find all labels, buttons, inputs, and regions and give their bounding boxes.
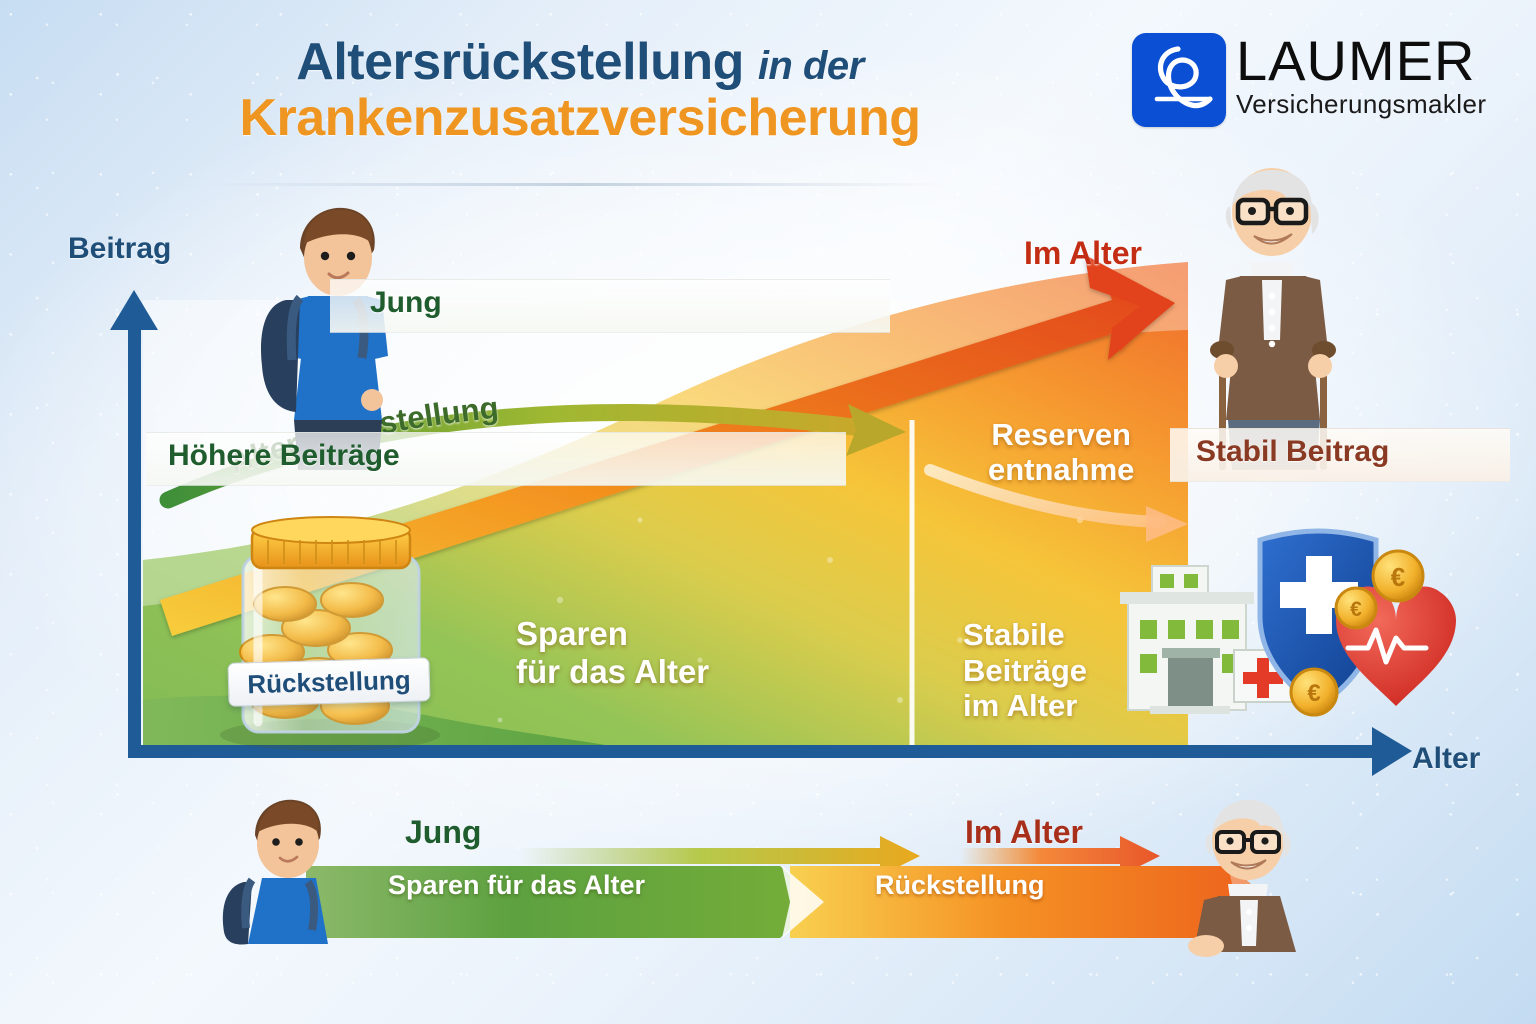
stabile-line-1: Stabile [963, 617, 1087, 653]
elderly-man-with-cane-icon [1210, 168, 1336, 470]
ribbon-label-im-alter: Im Alter [965, 814, 1083, 851]
infographic-canvas: Altersrückstellung in der Krankenzusatzv… [0, 0, 1536, 1024]
coin-jar-icon [220, 517, 440, 751]
summary-ribbon: Jung Im Alter Sparen für das Alter Rücks… [0, 790, 1536, 950]
svg-text:€: € [1307, 680, 1320, 707]
reserven-line-1: Reserven [988, 418, 1134, 453]
jar-tag-label: Rückstellung [247, 664, 411, 700]
label-reservenentnahme: Reserven entnahme [988, 418, 1134, 487]
label-hoehere-beitraege: Höhere Beiträge [168, 439, 400, 473]
label-sparen-fuer-das-alter: Sparen für das Alter [516, 615, 709, 690]
svg-text:€: € [1391, 562, 1405, 592]
label-stabile-beitraege-im-alter: Stabile Beiträge im Alter [963, 617, 1087, 724]
label-im-alter-top: Im Alter [1024, 235, 1142, 272]
jar-tag-rueckstellung: Rückstellung [227, 657, 430, 707]
label-stabil-beitrag: Stabil Beitrag [1196, 435, 1389, 469]
stabile-line-3: im Alter [963, 688, 1087, 724]
ribbon-label-jung: Jung [405, 814, 481, 851]
reserven-line-2: entnahme [988, 453, 1134, 488]
label-jung: Jung [370, 286, 442, 320]
sparen-line-2: für das Alter [516, 653, 709, 691]
stabile-line-2: Beiträge [963, 653, 1087, 689]
svg-text:€: € [1350, 598, 1362, 621]
sparen-line-1: Sparen [516, 615, 709, 653]
ribbon-chevron-left-label: Sparen für das Alter [388, 870, 645, 901]
ribbon-chevron-right-label: Rückstellung [875, 870, 1045, 901]
